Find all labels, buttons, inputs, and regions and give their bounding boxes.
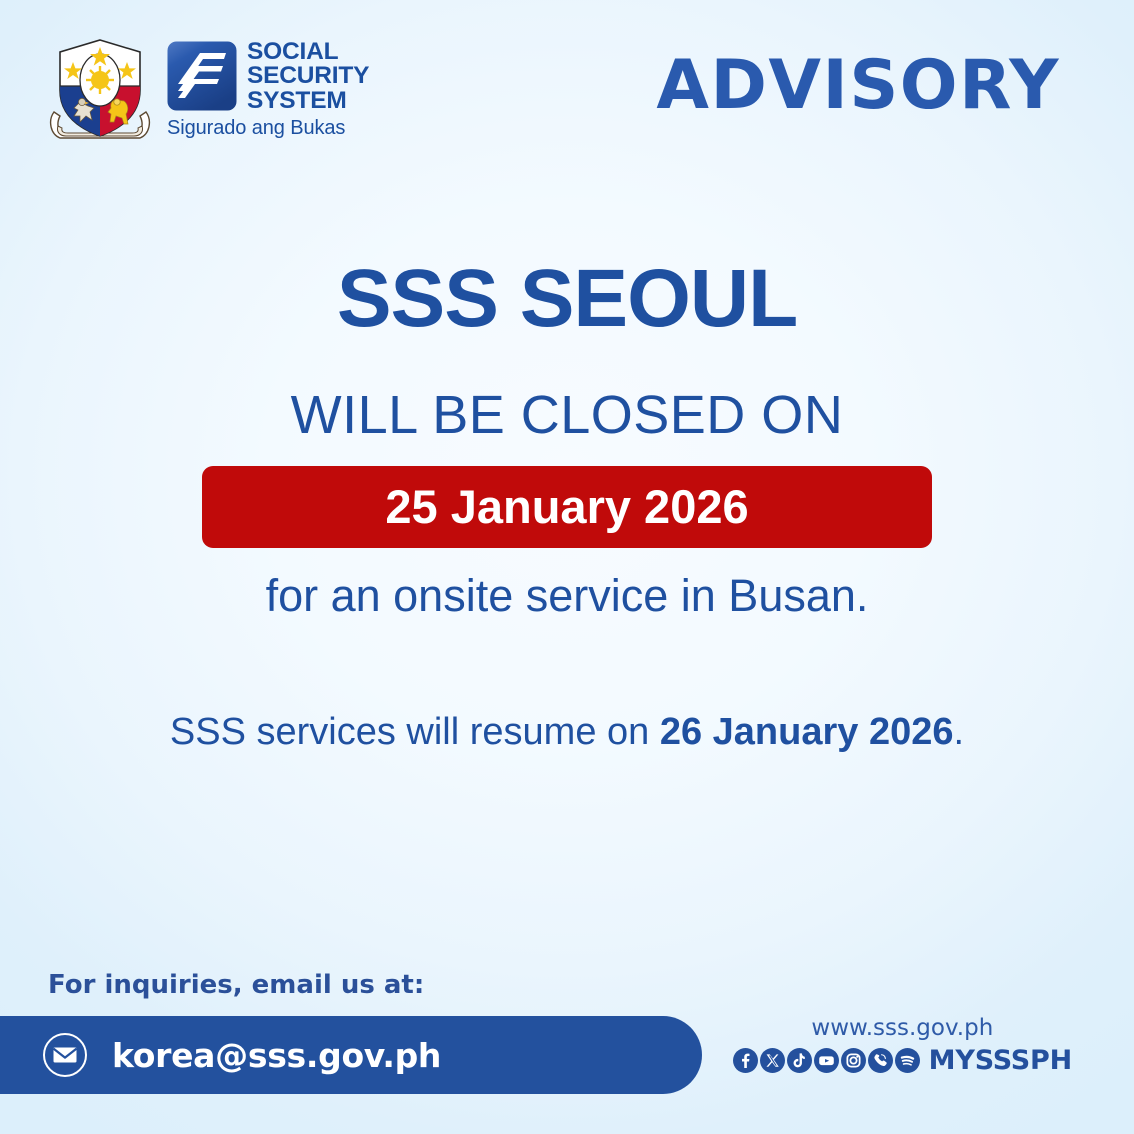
sss-wordmark-line2: SECURITY (247, 64, 369, 88)
advisory-poster: SOCIAL SECURITY SYSTEM Sigurado ang Buka… (0, 0, 1134, 1134)
email-address[interactable]: korea@sss.gov.ph (112, 1036, 441, 1075)
closure-reason: for an onsite service in Busan. (0, 570, 1134, 622)
viber-icon[interactable] (868, 1048, 893, 1073)
poster-header: SOCIAL SECURITY SYSTEM Sigurado ang Buka… (0, 0, 1134, 172)
website-url[interactable]: www.sss.gov.ph (733, 1014, 1072, 1043)
advisory-title: ADVISORY (656, 52, 1060, 120)
sss-wordmark: SOCIAL SECURITY SYSTEM (247, 40, 369, 113)
sss-logo-mark-icon (166, 40, 238, 112)
spotify-icon[interactable] (895, 1048, 920, 1073)
youtube-icon[interactable] (814, 1048, 839, 1073)
sss-logo-row: SOCIAL SECURITY SYSTEM (166, 40, 369, 113)
resume-statement: SSS services will resume on 26 January 2… (0, 710, 1134, 756)
sss-tagline: Sigurado ang Bukas (167, 117, 345, 140)
tiktok-icon[interactable] (787, 1048, 812, 1073)
x-twitter-icon[interactable] (760, 1048, 785, 1073)
philippine-coat-of-arms-icon (44, 30, 156, 148)
social-handle: MYSSSPH (929, 1047, 1072, 1074)
resume-date: 26 January 2026 (660, 711, 954, 753)
resume-prefix: SSS services will resume on (170, 711, 660, 753)
facebook-icon[interactable] (733, 1048, 758, 1073)
office-name: SSS SEOUL (0, 255, 1134, 344)
closure-date-banner: 25 January 2026 (202, 466, 932, 548)
envelope-icon (42, 1032, 88, 1078)
sss-wordmark-line3: SYSTEM (247, 89, 369, 113)
social-footer: www.sss.gov.ph (733, 1014, 1072, 1074)
instagram-icon[interactable] (841, 1048, 866, 1073)
resume-suffix: . (954, 711, 965, 753)
advisory-body: SSS SEOUL WILL BE CLOSED ON 25 January 2… (0, 255, 1134, 755)
logo-group: SOCIAL SECURITY SYSTEM Sigurado ang Buka… (44, 28, 369, 148)
closure-statement: WILL BE CLOSED ON (0, 386, 1134, 445)
sss-logo-block: SOCIAL SECURITY SYSTEM Sigurado ang Buka… (166, 40, 369, 140)
closure-date: 25 January 2026 (385, 483, 748, 530)
social-icon-row: MYSSSPH (733, 1047, 1072, 1074)
sss-wordmark-line1: SOCIAL (247, 40, 369, 64)
email-contact-pill[interactable]: korea@sss.gov.ph (0, 1016, 702, 1094)
inquiries-label: For inquiries, email us at: (48, 970, 424, 1000)
